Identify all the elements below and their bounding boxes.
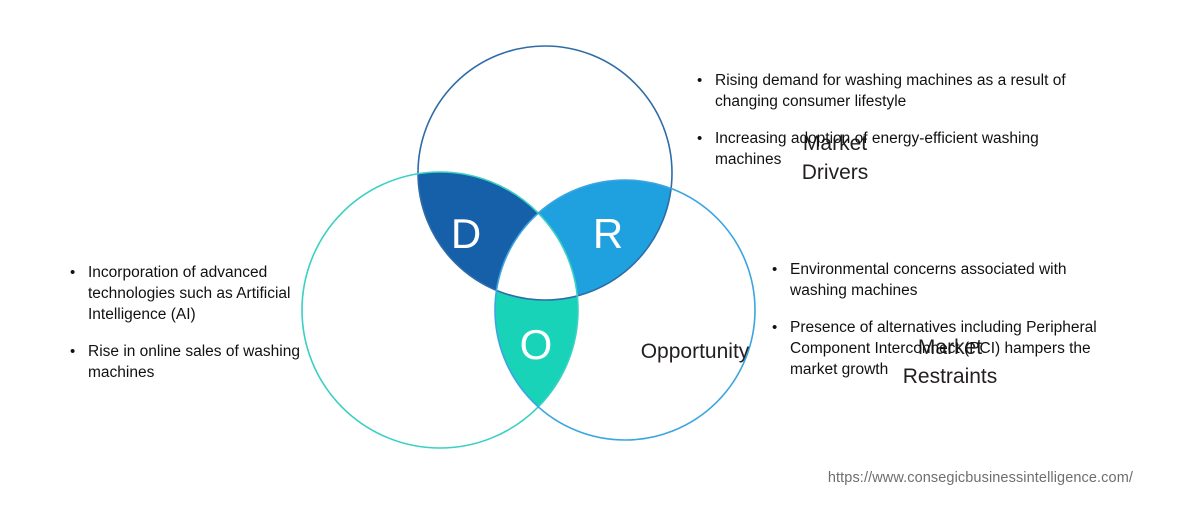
bullet-glyph-icon: • [772,259,790,280]
venn-caption-opportunity: Opportunity [605,338,785,367]
bullet-text: Environmental concerns associated with w… [790,259,1117,301]
source-url: https://www.consegicbusinessintelligence… [828,470,1133,486]
bullet-list-market-drivers: • Rising demand for washing machines as … [697,70,1097,170]
venn-letter-o: O [520,321,553,368]
bullet-text: Rise in online sales of washing machines [88,341,300,383]
bullet-list-market-restraints: • Environmental concerns associated with… [772,259,1117,380]
bullet-glyph-icon: • [70,341,88,362]
list-item: • Environmental concerns associated with… [772,259,1117,301]
list-item: • Incorporation of advanced technologies… [70,262,300,325]
venn-letter-d: D [451,210,481,257]
list-item: • Increasing adoption of energy-efficien… [697,128,1097,170]
infographic-canvas: D R O Market Drivers Opportunity Market … [0,0,1177,508]
bullet-glyph-icon: • [697,128,715,149]
bullet-glyph-icon: • [772,317,790,338]
list-item: • Rising demand for washing machines as … [697,70,1097,112]
bullet-text: Presence of alternatives including Perip… [790,317,1117,380]
bullet-text: Increasing adoption of energy-efficient … [715,128,1097,170]
bullet-glyph-icon: • [697,70,715,91]
venn-letter-r: R [593,210,623,257]
list-item: • Presence of alternatives including Per… [772,317,1117,380]
list-item: • Rise in online sales of washing machin… [70,341,300,383]
bullet-text: Incorporation of advanced technologies s… [88,262,300,325]
bullet-glyph-icon: • [70,262,88,283]
bullet-text: Rising demand for washing machines as a … [715,70,1097,112]
bullet-list-opportunity: • Incorporation of advanced technologies… [70,262,300,383]
